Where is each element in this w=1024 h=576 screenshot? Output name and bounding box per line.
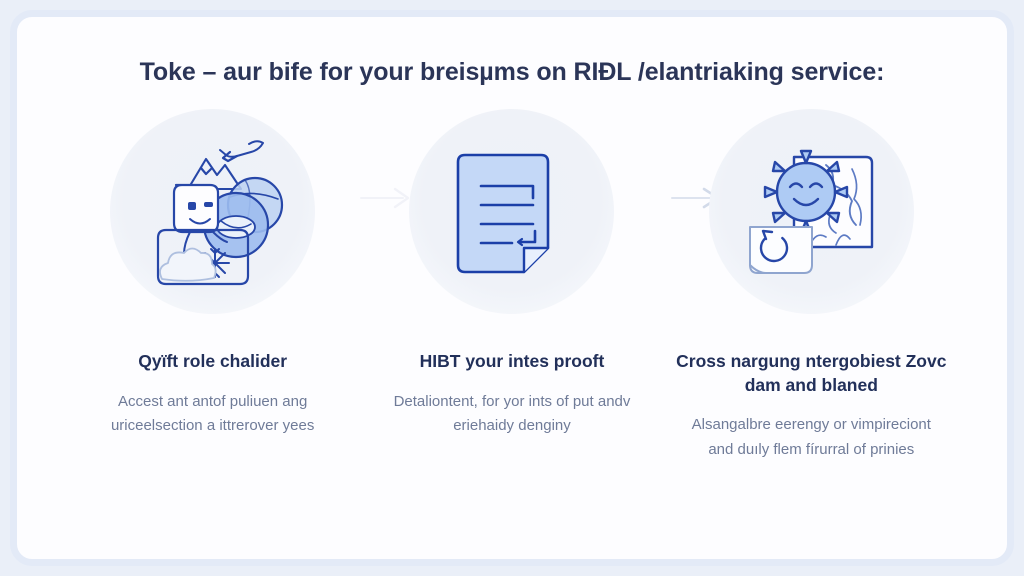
traveler-mountains-airplane-globe-illustration: [118, 117, 308, 307]
step-3-illustration-circle: [709, 109, 914, 314]
step-3-heading: Cross nargung ntergobiest Zovc dam and b…: [676, 350, 947, 397]
card-inner: Toke – aur bife for your breisµms on RIƉ…: [17, 17, 1007, 559]
steps-row: Qyïft role chalider Accest ant antof pul…: [63, 109, 961, 462]
step-3-body: Alsangalbre eerengy or vimpireciont and …: [680, 413, 942, 462]
step-3: Cross nargung ntergobiest Zovc dam and b…: [662, 109, 961, 462]
step-1-body: Accest ant antof puliuen ang uriceelsect…: [82, 390, 344, 439]
step-2-illustration-circle: [409, 109, 614, 314]
step-1-illustration-circle: [110, 109, 315, 314]
content-card: Toke – aur bife for your breisµms on RIƉ…: [10, 10, 1014, 566]
step-2-heading: HIBT your intes prooft: [420, 350, 605, 374]
page-title: Toke – aur bife for your breisµms on RIƉ…: [63, 57, 961, 87]
step-1-heading: Qyïft role chalider: [138, 350, 287, 374]
document-page-illustration: [417, 117, 607, 307]
page-root: Toke – aur bife for your breisµms on RIƉ…: [0, 0, 1024, 576]
step-2-body: Detaliontent, for yor ints of put andv e…: [381, 390, 643, 439]
virus-map-refresh-card-illustration: [716, 117, 906, 307]
step-1: Qyïft role chalider Accest ant antof pul…: [63, 109, 362, 438]
step-2: HIBT your intes prooft Detaliontent, for…: [362, 109, 661, 438]
